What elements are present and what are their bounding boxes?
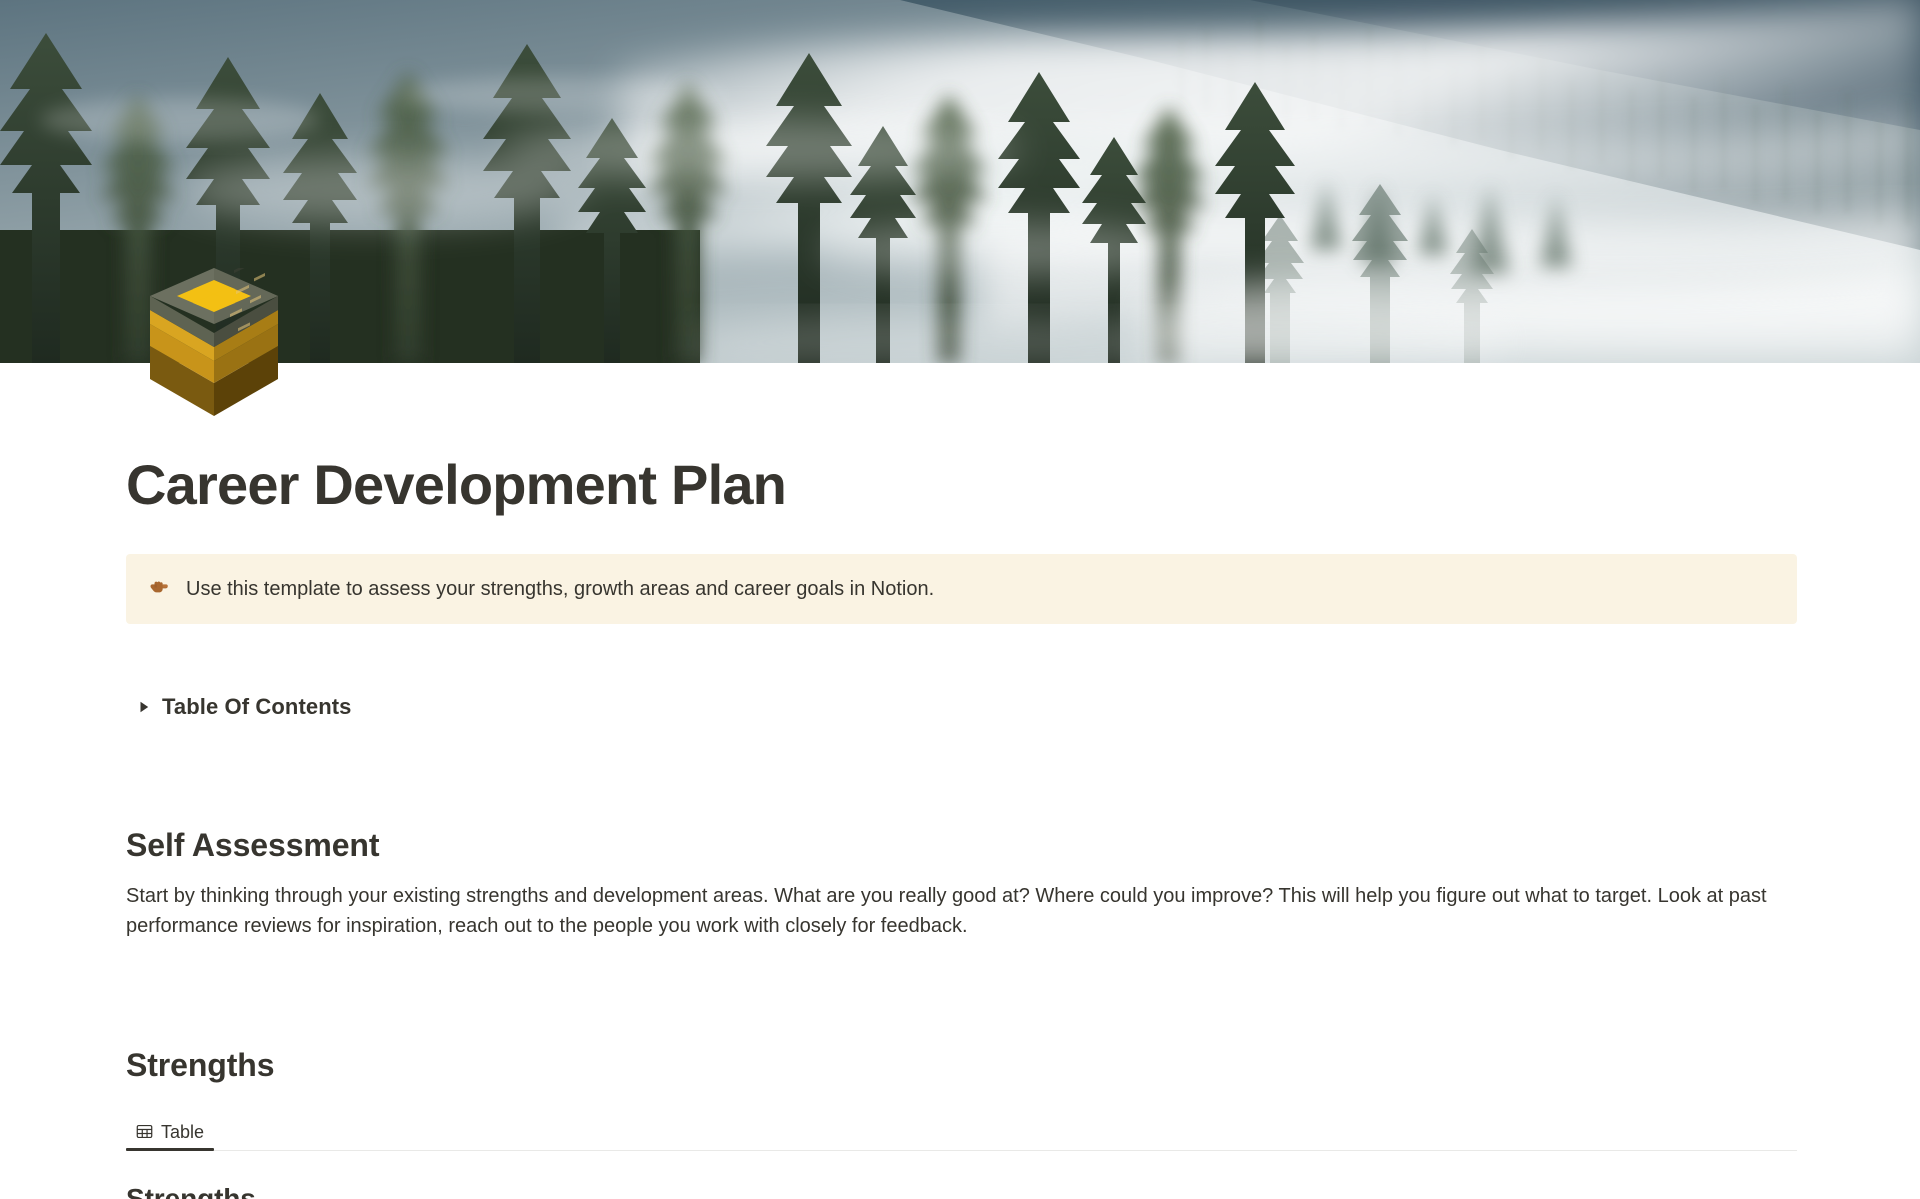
callout-text: Use this template to assess your strengt… (186, 575, 934, 602)
database-title[interactable]: Strengths (126, 1183, 1797, 1199)
notion-page: Career Development Plan Use this templat… (0, 0, 1920, 1199)
tab-table-view-label: Table (161, 1123, 204, 1141)
page-content: Career Development Plan Use this templat… (126, 363, 1797, 1199)
paragraph-self-assessment[interactable]: Start by thinking through your existing … (126, 881, 1797, 941)
page-cover-image[interactable] (0, 0, 1920, 363)
table-grid-icon (136, 1123, 153, 1140)
tab-table-view[interactable]: Table (126, 1123, 214, 1150)
page-title[interactable]: Career Development Plan (126, 453, 1797, 517)
triangle-right-icon[interactable] (135, 698, 153, 716)
page-icon[interactable] (140, 268, 288, 416)
toggle-table-of-contents[interactable]: Table Of Contents (126, 689, 1797, 725)
toggle-label: Table Of Contents (162, 694, 352, 720)
heading-strengths[interactable]: Strengths (126, 1045, 1797, 1087)
pointing-right-hand-emoji (148, 575, 172, 599)
database-block-strengths: Table Strengths (126, 1111, 1797, 1199)
heading-self-assessment[interactable]: Self Assessment (126, 825, 1797, 867)
database-view-tabs: Table (126, 1111, 1797, 1151)
callout-block[interactable]: Use this template to assess your strengt… (126, 554, 1797, 624)
